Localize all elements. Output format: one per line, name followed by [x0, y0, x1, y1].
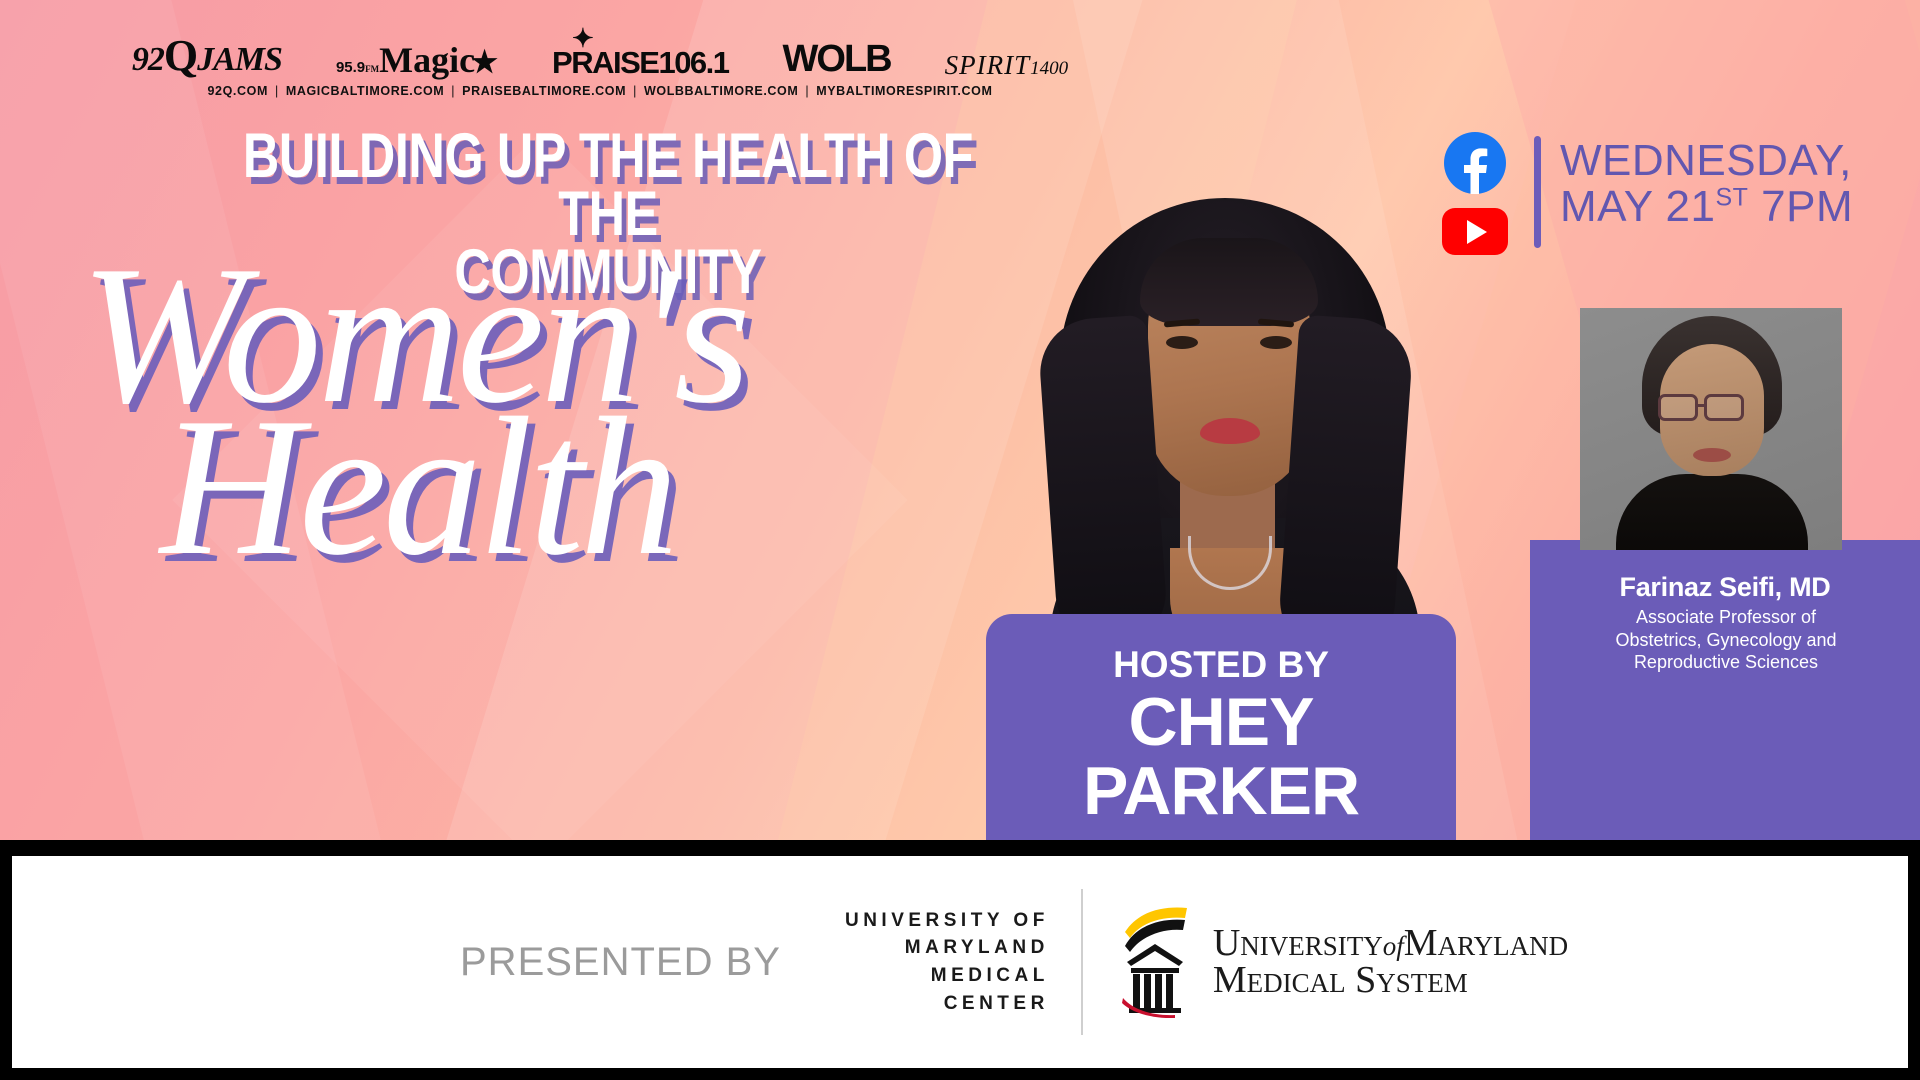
host-name-line-1: CHEY — [986, 690, 1456, 755]
star-icon: ★ — [471, 48, 498, 78]
ummc-logo: UNIVERSITY OF MARYLAND MEDICAL CENTER — [845, 907, 1049, 1017]
doctor-title-line-3: Reproductive Sciences — [1548, 651, 1904, 674]
url-separator: | — [805, 84, 809, 98]
event-time: 7PM — [1761, 182, 1853, 231]
portrait-eye — [1260, 336, 1292, 349]
doctor-eyeglasses-bridge — [1698, 404, 1706, 407]
umms-column-mark-icon — [1119, 906, 1191, 1018]
station-url[interactable]: MAGICBALTIMORE.COM — [286, 84, 444, 98]
hosted-by-label: HOSTED BY — [986, 644, 1456, 686]
station-urls: 92Q.COM|MAGICBALTIMORE.COM|PRAISEBALTIMO… — [208, 84, 993, 98]
radio-station-bar: 92QJAMS 95.9FMMagic★ ✦PRAISE106.1 WOLB S… — [0, 26, 1200, 98]
umms-r2a: M — [1213, 959, 1247, 1001]
umms-r1b: NIVERSITY — [1240, 931, 1383, 961]
umms-r1a: U — [1213, 922, 1240, 964]
station-92q-pre: 92 — [132, 43, 164, 77]
url-separator: | — [633, 84, 637, 98]
umms-line-1: UNIVERSITYofMARYLAND — [1213, 925, 1568, 962]
umms-r1c: of — [1383, 931, 1404, 961]
station-logo-magic: 95.9FMMagic★ — [336, 42, 498, 78]
umms-r2d: YSTEM — [1376, 968, 1468, 998]
date-divider — [1534, 136, 1541, 248]
url-separator: | — [451, 84, 455, 98]
doctor-name: Farinaz Seifi, MD — [1530, 572, 1920, 603]
presented-by-label: PRESENTED BY — [460, 940, 781, 985]
umms-line-2: MEDICAL SYSTEM — [1213, 962, 1568, 999]
station-logo-spirit: SPIRIT 1400 — [945, 53, 1068, 78]
umms-r1d: M — [1404, 922, 1438, 964]
script-title: Women's Health — [60, 250, 1090, 573]
ummc-line-4: CENTER — [845, 990, 1049, 1018]
station-wolb-name: WOLB — [783, 40, 891, 78]
script-title-word-2: Health — [60, 402, 1090, 572]
station-92q-post: JAMS — [197, 43, 282, 77]
facebook-icon[interactable] — [1444, 132, 1506, 194]
umms-logo: UNIVERSITYofMARYLAND MEDICAL SYSTEM — [1119, 906, 1568, 1018]
station-url[interactable]: 92Q.COM — [208, 84, 268, 98]
portrait-hair-strand — [1276, 314, 1414, 661]
ummc-line-1: UNIVERSITY OF — [845, 907, 1049, 935]
umms-r2c: S — [1355, 959, 1376, 1001]
doctor-title-line-1: Associate Professor of — [1548, 606, 1904, 629]
umms-r2b: EDICAL — [1247, 968, 1346, 998]
sponsor-bar: PRESENTED BY UNIVERSITY OF MARYLAND MEDI… — [12, 856, 1908, 1068]
poster-artwork: 92QJAMS 95.9FMMagic★ ✦PRAISE106.1 WOLB S… — [0, 0, 1920, 840]
station-logo-92q: 92QJAMS — [132, 34, 282, 78]
station-spirit-line1: SPIRIT — [945, 53, 1030, 78]
play-triangle-icon — [1467, 220, 1487, 244]
host-name-line-2: PARKER — [986, 759, 1456, 824]
event-date-ordinal: ST — [1715, 183, 1748, 211]
station-url[interactable]: WOLBBALTIMORE.COM — [644, 84, 798, 98]
event-date: WEDNESDAY, MAY 21ST 7PM — [1560, 138, 1910, 230]
doctor-title: Associate Professor of Obstetrics, Gynec… — [1548, 606, 1904, 674]
doctor-eyeglasses-lens — [1658, 394, 1698, 421]
station-92q-big: Q — [164, 34, 197, 78]
station-logo-row: 92QJAMS 95.9FMMagic★ ✦PRAISE106.1 WOLB S… — [132, 26, 1068, 78]
ummc-line-3: MEDICAL — [845, 962, 1049, 990]
event-date-day: WEDNESDAY, — [1560, 138, 1910, 184]
plane-icon: ✦ — [572, 25, 592, 51]
hosted-by-card: HOSTED BY CHEY PARKER — [986, 614, 1456, 840]
station-logo-wolb: WOLB — [783, 40, 891, 78]
station-url[interactable]: PRAISEBALTIMORE.COM — [462, 84, 626, 98]
doctor-lips — [1693, 448, 1731, 462]
station-magic-freq: 95.9 — [336, 60, 365, 75]
portrait-eye — [1166, 336, 1198, 349]
doctor-headshot-photo — [1580, 308, 1842, 550]
portrait-fringe — [1140, 238, 1318, 326]
event-poster: 92QJAMS 95.9FMMagic★ ✦PRAISE106.1 WOLB S… — [0, 0, 1920, 1080]
youtube-icon[interactable] — [1442, 208, 1508, 255]
event-date-month-day: MAY 21 — [1560, 182, 1715, 231]
station-url[interactable]: MYBALTIMORESPIRIT.COM — [816, 84, 992, 98]
event-date-detail: MAY 21ST 7PM — [1560, 184, 1910, 230]
umms-r1e: ARYLAND — [1438, 931, 1569, 961]
doctor-body — [1616, 474, 1808, 550]
social-icons — [1435, 132, 1515, 255]
station-praise-name: PRAISE — [552, 47, 658, 78]
sponsor-divider — [1081, 889, 1083, 1035]
umms-wordmark: UNIVERSITYofMARYLAND MEDICAL SYSTEM — [1213, 925, 1568, 999]
portrait-lips — [1200, 418, 1260, 444]
station-magic-name: Magic — [379, 42, 475, 78]
station-magic-fm: FM — [365, 65, 379, 74]
station-spirit-line2: 1400 — [1030, 60, 1068, 77]
doctor-title-line-2: Obstetrics, Gynecology and — [1548, 629, 1904, 652]
station-logo-praise: ✦PRAISE106.1 — [552, 47, 729, 78]
doctor-eyeglasses-lens — [1704, 394, 1744, 421]
ummc-line-2: MARYLAND — [845, 934, 1049, 962]
url-separator: | — [275, 84, 279, 98]
station-praise-num: 106.1 — [658, 47, 728, 78]
